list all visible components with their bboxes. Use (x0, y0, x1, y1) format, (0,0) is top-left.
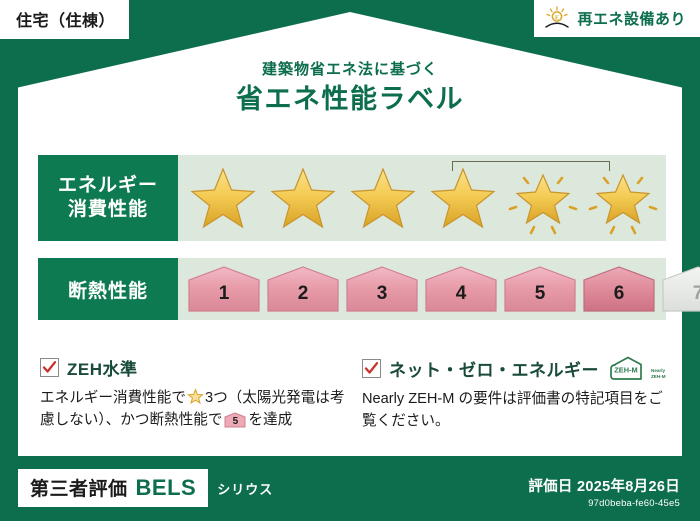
zeh-body-part1: エネルギー消費性能で (40, 390, 186, 406)
net-zero-body: Nearly ZEH-M の要件は評価書の特記項目をご覧ください。 (362, 388, 668, 432)
building-type-tag: 住宅（住棟） (0, 0, 129, 39)
energy-row-label-line1: エネルギー (58, 174, 158, 198)
insulation-performance-row: 断熱性能 1 2 3 4 5 (38, 258, 666, 320)
insulation-row-label: 断熱性能 (38, 258, 178, 320)
net-zero-energy-block: ネット・ゼロ・エネルギー ZEH-M Nearly ZEH-M Nearly Z… (362, 355, 668, 432)
insulation-grade-4: 4 (423, 265, 499, 313)
zeh-m-sub-line1: Nearly (651, 368, 665, 373)
net-zero-title: ネット・ゼロ・エネルギー (389, 356, 599, 381)
renewable-badge-label: 再エネ設備あり (577, 8, 686, 29)
insulation-grade-7: 7 (660, 265, 700, 313)
net-zero-heading: ネット・ゼロ・エネルギー ZEH-M Nearly ZEH-M (362, 355, 668, 381)
energy-row-label-line2: 消費性能 (68, 198, 148, 222)
insulation-grade-5: 5 (502, 265, 578, 313)
insulation-grade-3-value: 3 (344, 265, 420, 313)
inline-star-icon (187, 388, 204, 405)
svg-text:ZEH-M: ZEH-M (614, 366, 637, 375)
insulation-grade-4-value: 4 (423, 265, 499, 313)
insulation-row-panel: 1 2 3 4 5 6 7 (178, 258, 666, 320)
zeh-standard-body: エネルギー消費性能で 3つ（太陽光発電は考慮しない）、かつ断熱性能で 5 を達成 (40, 387, 350, 431)
zeh-m-logo-subtext: Nearly ZEH-M (651, 368, 666, 381)
svg-text:E: E (555, 14, 559, 21)
evaluation-date: 評価日 2025年8月26日 (528, 475, 680, 496)
insulation-grade-5-value: 5 (502, 265, 578, 313)
zeh-m-logo-icon: ZEH-M Nearly ZEH-M (607, 355, 666, 381)
title-subtitle: 建築物省エネ法に基づく (0, 62, 700, 79)
evaluation-id: 97d0beba-fe60-45e5 (528, 498, 680, 509)
energy-row-panel: 太陽光発電(自家消費)分 (178, 155, 666, 241)
insulation-grade-6: 6 (581, 265, 657, 313)
insulation-grade-1-value: 1 (186, 265, 262, 313)
checkbox-checked-icon-2 (362, 359, 381, 378)
bels-evaluation-jp: 第三者評価 (30, 474, 128, 501)
inline-insulation-house-icon: 5 (224, 412, 246, 428)
insulation-grade-2: 2 (265, 265, 341, 313)
energy-row-label: エネルギー 消費性能 (38, 155, 178, 241)
zeh-standard-title: ZEH水準 (67, 355, 138, 380)
renewable-energy-badge: E 再エネ設備あり (534, 0, 700, 37)
label-title-block: 建築物省エネ法に基づく 省エネ性能ラベル (0, 62, 700, 116)
solar-bracket: 太陽光発電(自家消費)分 (452, 161, 610, 171)
zeh-body-star-count: 3つ (205, 390, 228, 406)
bels-box: 第三者評価 BELS (18, 469, 208, 507)
bels-footer: 第三者評価 BELS シリウス (18, 469, 273, 507)
star-rating-group: 太陽光発電(自家消費)分 (184, 155, 666, 241)
title-main: 省エネ性能ラベル (0, 83, 700, 117)
sun-icon: E (544, 6, 570, 30)
zeh-body-part3: を達成 (248, 412, 292, 428)
insulation-grade-1: 1 (186, 265, 262, 313)
zeh-standard-block: ZEH水準 エネルギー消費性能で 3つ（太陽光発電は考慮しない）、かつ断熱性能で… (40, 355, 350, 431)
inline-house-value: 5 (224, 412, 246, 428)
evaluation-meta: 評価日 2025年8月26日 97d0beba-fe60-45e5 (528, 475, 680, 509)
insulation-grade-6-value: 6 (581, 265, 657, 313)
insulation-grade-3: 3 (344, 265, 420, 313)
bels-evaluation-en: BELS (136, 475, 197, 501)
bels-series-name: シリウス (217, 479, 273, 498)
insulation-grade-2-value: 2 (265, 265, 341, 313)
zeh-standard-heading: ZEH水準 (40, 355, 350, 380)
star-3 (344, 157, 422, 239)
star-2 (264, 157, 342, 239)
energy-consumption-row: エネルギー 消費性能 (38, 155, 666, 241)
star-1 (184, 157, 262, 239)
zeh-m-sub-line2: ZEH-M (651, 374, 666, 379)
checkbox-checked-icon (40, 358, 59, 377)
energy-performance-label: 住宅（住棟） E 再エネ設備あり 建築物省エネ法に基づく 省エネ性能ラベル (0, 0, 700, 521)
insulation-grade-7-value: 7 (660, 265, 700, 313)
